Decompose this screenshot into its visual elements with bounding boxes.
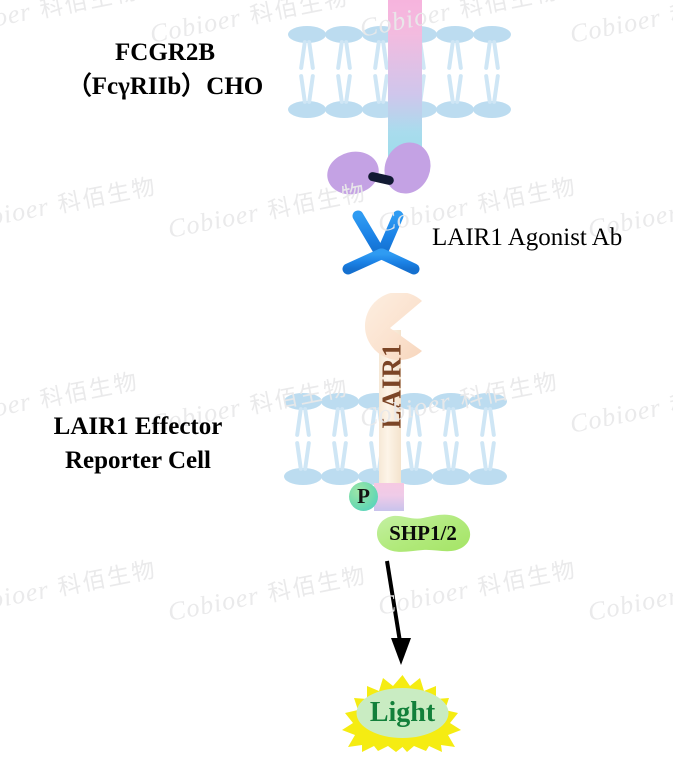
phospholipid bbox=[436, 26, 474, 72]
phospholipid bbox=[325, 26, 363, 72]
phospholipid-tail bbox=[455, 40, 463, 70]
phospholipid-tail bbox=[447, 74, 455, 104]
phospholipid bbox=[284, 439, 322, 485]
phospholipid-tail bbox=[373, 40, 381, 70]
phospholipid bbox=[288, 72, 326, 118]
effector-cell-caption: LAIR1 Effector Reporter Cell bbox=[12, 410, 264, 478]
phospholipid-tail bbox=[406, 441, 414, 471]
phosphate-icon: P bbox=[349, 482, 378, 511]
antibody-caption: LAIR1 Agonist Ab bbox=[432, 224, 622, 252]
phospholipid-tail bbox=[295, 407, 303, 437]
phospholipid-tail bbox=[443, 441, 451, 471]
phospholipid-tail bbox=[484, 74, 492, 104]
phospholipid-tail bbox=[303, 407, 311, 437]
phospholipid-tail bbox=[332, 441, 340, 471]
phospholipid-tail bbox=[455, 74, 463, 104]
phospholipid bbox=[288, 26, 326, 72]
phospholipid-tail bbox=[443, 407, 451, 437]
fc-receptor-lobe-upper bbox=[377, 135, 438, 200]
phospholipid bbox=[469, 439, 507, 485]
cho-caption-line2: （FcγRIIb）CHO bbox=[42, 70, 288, 104]
cho-cell-caption: FCGR2B （FcγRIIb）CHO bbox=[42, 36, 288, 104]
watermark-text: Cobioer 科佰生物 bbox=[585, 556, 673, 628]
shp-label: SHP1/2 bbox=[371, 513, 475, 553]
watermark-text: Cobioer 科佰生物 bbox=[165, 556, 369, 628]
phospholipid bbox=[432, 393, 470, 439]
phospholipid-tail bbox=[492, 74, 500, 104]
phospholipid-tail bbox=[340, 407, 348, 437]
phospholipid-tail bbox=[414, 441, 422, 471]
effector-caption-line1: LAIR1 Effector bbox=[12, 410, 264, 444]
phospholipid-tail bbox=[447, 40, 455, 70]
phospholipid-tail bbox=[340, 441, 348, 471]
phospholipid-tail bbox=[451, 407, 459, 437]
phospholipid bbox=[432, 439, 470, 485]
cho-caption-line1: FCGR2B bbox=[42, 36, 288, 70]
phospholipid-tail bbox=[344, 40, 352, 70]
phospholipid-tail bbox=[488, 407, 496, 437]
phospholipid bbox=[325, 72, 363, 118]
phospholipid-tail bbox=[480, 407, 488, 437]
phospholipid-tail bbox=[451, 441, 459, 471]
phospholipid-tail bbox=[369, 441, 377, 471]
itim-motif-box bbox=[374, 483, 404, 511]
lair1-receptor-label: LAIR1 bbox=[377, 336, 408, 436]
watermark-text: Cobioer 科佰生物 bbox=[567, 0, 673, 50]
effector-caption-line2: Reporter Cell bbox=[12, 444, 264, 478]
phospholipid bbox=[473, 72, 511, 118]
phospholipid-tail bbox=[295, 441, 303, 471]
phospholipid-tail bbox=[303, 441, 311, 471]
watermark-text: Cobioer 科佰生物 bbox=[0, 167, 159, 239]
phospholipid-tail bbox=[484, 40, 492, 70]
phospholipid-tail bbox=[492, 40, 500, 70]
light-label: Light bbox=[330, 673, 475, 753]
phospholipid-tail bbox=[488, 441, 496, 471]
phospholipid-tail bbox=[332, 407, 340, 437]
phospholipid-tail bbox=[307, 40, 315, 70]
phospholipid-tail bbox=[336, 74, 344, 104]
phospholipid-tail bbox=[373, 74, 381, 104]
fc-receptor-transmembrane-stem bbox=[388, 0, 422, 166]
phospholipid bbox=[473, 26, 511, 72]
phospholipid-tail bbox=[336, 40, 344, 70]
phospholipid-tail bbox=[414, 407, 422, 437]
antibody-icon bbox=[336, 206, 428, 299]
phospholipid-tail bbox=[344, 74, 352, 104]
watermark-text: Cobioer 科佰生物 bbox=[567, 368, 673, 440]
signal-arrow-icon bbox=[370, 558, 432, 675]
phospholipid-tail bbox=[480, 441, 488, 471]
phospholipid bbox=[321, 439, 359, 485]
phospholipid bbox=[469, 393, 507, 439]
phospholipid bbox=[321, 393, 359, 439]
phospholipid-tail bbox=[299, 40, 307, 70]
watermark-text: Cobioer 科佰生物 bbox=[0, 550, 159, 622]
phospholipid bbox=[284, 393, 322, 439]
phospholipid-tail bbox=[307, 74, 315, 104]
diagram-canvas: LAIR1 P SHP1/2 Light bbox=[0, 0, 673, 757]
phospholipid bbox=[436, 72, 474, 118]
phospholipid-tail bbox=[299, 74, 307, 104]
